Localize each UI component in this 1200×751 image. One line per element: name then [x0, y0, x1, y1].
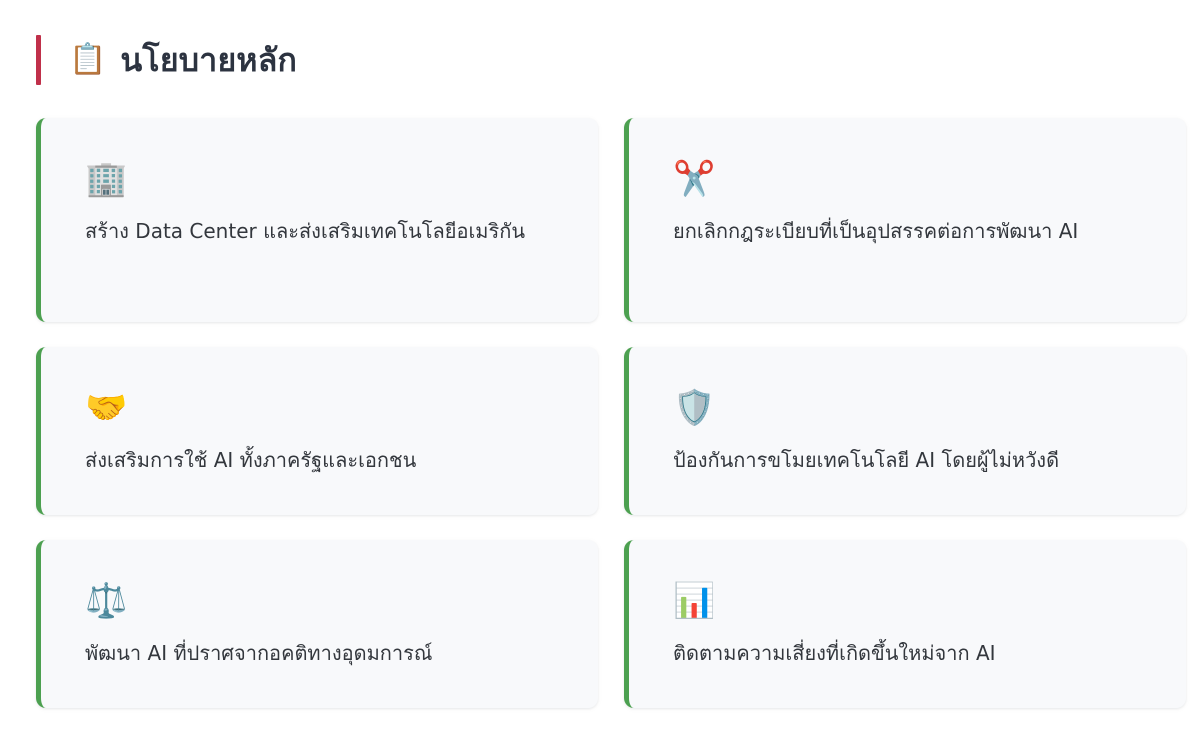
policy-card[interactable]: ✂️ ยกเลิกกฎระเบียบที่เป็นอุปสรรคต่อการพั… [624, 118, 1186, 322]
policy-card[interactable]: 🏢 สร้าง Data Center และส่งเสริมเทคโนโลยี… [36, 118, 598, 322]
policy-card-text: สร้าง Data Center และส่งเสริมเทคโนโลยีอเ… [85, 216, 555, 247]
clipboard-icon: 📋 [69, 45, 106, 75]
policy-card[interactable]: ⚖️ พัฒนา AI ที่ปราศจากอคติทางอุดมการณ์ [36, 540, 598, 708]
header-accent-bar [36, 35, 41, 85]
policy-card-text: ติดตามความเสี่ยงที่เกิดขึ้นใหม่จาก AI [673, 638, 1143, 669]
policy-card[interactable]: 🤝 ส่งเสริมการใช้ AI ทั้งภาครัฐและเอกชน [36, 347, 598, 515]
policy-card-grid: 🏢 สร้าง Data Center และส่งเสริมเทคโนโลยี… [36, 118, 1186, 708]
section-header: 📋 นโยบายหลัก [36, 33, 297, 87]
handshake-icon: 🤝 [85, 391, 572, 431]
policy-card-text: ป้องกันการขโมยเทคโนโลยี AI โดยผู้ไม่หวัง… [673, 445, 1143, 476]
balance-scale-icon: ⚖️ [85, 584, 572, 624]
policy-card-text: พัฒนา AI ที่ปราศจากอคติทางอุดมการณ์ [85, 638, 555, 669]
scissors-icon: ✂️ [673, 162, 1160, 202]
shield-icon: 🛡️ [673, 391, 1160, 431]
office-building-icon: 🏢 [85, 162, 572, 202]
policy-card[interactable]: 🛡️ ป้องกันการขโมยเทคโนโลยี AI โดยผู้ไม่ห… [624, 347, 1186, 515]
page-title: นโยบายหลัก [120, 42, 297, 79]
policy-card-text: ยกเลิกกฎระเบียบที่เป็นอุปสรรคต่อการพัฒนา… [673, 216, 1143, 247]
policy-card[interactable]: 📊 ติดตามความเสี่ยงที่เกิดขึ้นใหม่จาก AI [624, 540, 1186, 708]
bar-chart-icon: 📊 [673, 584, 1160, 624]
policy-section-page: 📋 นโยบายหลัก 🏢 สร้าง Data Center และส่งเ… [0, 0, 1200, 751]
policy-card-text: ส่งเสริมการใช้ AI ทั้งภาครัฐและเอกชน [85, 445, 555, 476]
